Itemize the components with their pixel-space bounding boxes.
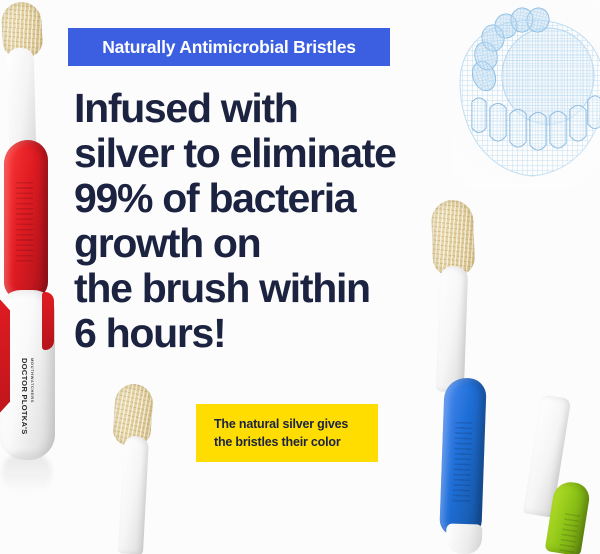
dental-wireframe-model-icon [452,0,600,190]
callout-line-1: The natural silver gives [214,415,378,433]
headline-line-3: 99% of bacteria [74,176,474,221]
silver-color-callout: The natural silver gives the bristles th… [196,404,378,462]
reflection-red-brush [2,452,52,494]
toothbrush-green [524,396,600,554]
antimicrobial-badge-label: Naturally Antimicrobial Bristles [102,37,356,58]
toothbrush-white [104,378,168,554]
grip-ribs-red-brush [16,182,33,264]
headline-line-5: the brush within [74,266,474,311]
grip-ribs-blue-brush [453,422,473,503]
callout-line-2: the bristles their color [214,433,378,451]
promo-canvas: DOCTOR PLOTKA'S MOUTHWATCHERS Naturally … [0,0,600,554]
headline-line-2: silver to eliminate [74,131,474,176]
antimicrobial-badge: Naturally Antimicrobial Bristles [68,28,390,66]
tip-blue-brush [445,523,482,554]
base-accent-left-red-brush [0,296,10,416]
headline-line-6: 6 hours! [74,311,474,356]
neck-white-brush [118,435,149,554]
base-accent-right-red-brush [42,292,54,350]
brand-name-secondary: MOUTHWATCHERS [30,358,35,403]
headline-line-1: Infused with [74,86,474,131]
toothbrush-red: DOCTOR PLOTKA'S MOUTHWATCHERS [0,0,74,500]
headline-line-4: growth on [74,221,474,266]
brand-name-primary: DOCTOR PLOTKA'S [20,358,29,435]
brand-logo-red-brush: DOCTOR PLOTKA'S MOUTHWATCHERS [20,358,34,432]
page-title: Infused with silver to eliminate 99% of … [74,86,474,356]
